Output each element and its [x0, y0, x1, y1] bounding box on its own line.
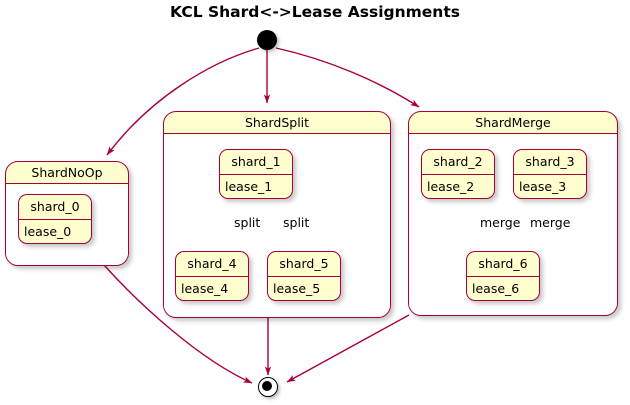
state-shard-6-lease: lease_6 [472, 277, 537, 300]
edge-label-merge-left: merge [480, 215, 520, 230]
state-shard-4-name: shard_4 [176, 252, 248, 276]
state-shard-0[interactable]: shard_0 lease_0 [18, 194, 92, 244]
composite-state-shardmerge[interactable]: ShardMerge shard_2 lease_2 shard_3 lease… [408, 111, 618, 316]
state-diagram: KCL Shard<->Lease Assignments [0, 0, 630, 405]
state-shard-1[interactable]: shard_1 lease_1 [219, 149, 293, 199]
state-shard-6[interactable]: shard_6 lease_6 [466, 251, 540, 301]
composite-title-shardmerge: ShardMerge [409, 112, 617, 133]
state-shard-0-lease: lease_0 [24, 220, 89, 243]
node-layer: ShardNoOp shard_0 lease_0 ShardSplit sha… [0, 0, 630, 405]
composite-title-shardsplit: ShardSplit [164, 112, 390, 133]
composite-title-shardnoop: ShardNoOp [6, 162, 128, 183]
state-shard-4-lease: lease_4 [181, 277, 246, 300]
composite-state-shardsplit[interactable]: ShardSplit shard_1 lease_1 shard_4 lease… [163, 111, 391, 318]
state-shard-0-name: shard_0 [19, 195, 91, 219]
state-shard-5-lease: lease_5 [273, 277, 338, 300]
edge-label-merge-right: merge [530, 215, 570, 230]
state-shard-1-name: shard_1 [220, 150, 292, 174]
state-shard-5-name: shard_5 [268, 252, 340, 276]
state-shard-3-name: shard_3 [514, 150, 586, 174]
state-shard-6-name: shard_6 [467, 252, 539, 276]
final-state-node [258, 377, 278, 397]
state-shard-1-lease: lease_1 [225, 175, 290, 198]
composite-state-shardnoop[interactable]: ShardNoOp shard_0 lease_0 [5, 161, 129, 266]
state-shard-2-lease: lease_2 [427, 175, 492, 198]
state-shard-2[interactable]: shard_2 lease_2 [421, 149, 495, 199]
state-shard-3-lease: lease_3 [519, 175, 584, 198]
composite-divider [6, 183, 128, 184]
initial-state-node [257, 30, 277, 50]
edge-label-split-left: split [234, 215, 260, 230]
composite-divider [409, 133, 617, 134]
state-shard-4[interactable]: shard_4 lease_4 [175, 251, 249, 301]
edge-label-split-right: split [283, 215, 309, 230]
state-shard-2-name: shard_2 [422, 150, 494, 174]
state-shard-3[interactable]: shard_3 lease_3 [513, 149, 587, 199]
state-shard-5[interactable]: shard_5 lease_5 [267, 251, 341, 301]
composite-divider [164, 133, 390, 134]
